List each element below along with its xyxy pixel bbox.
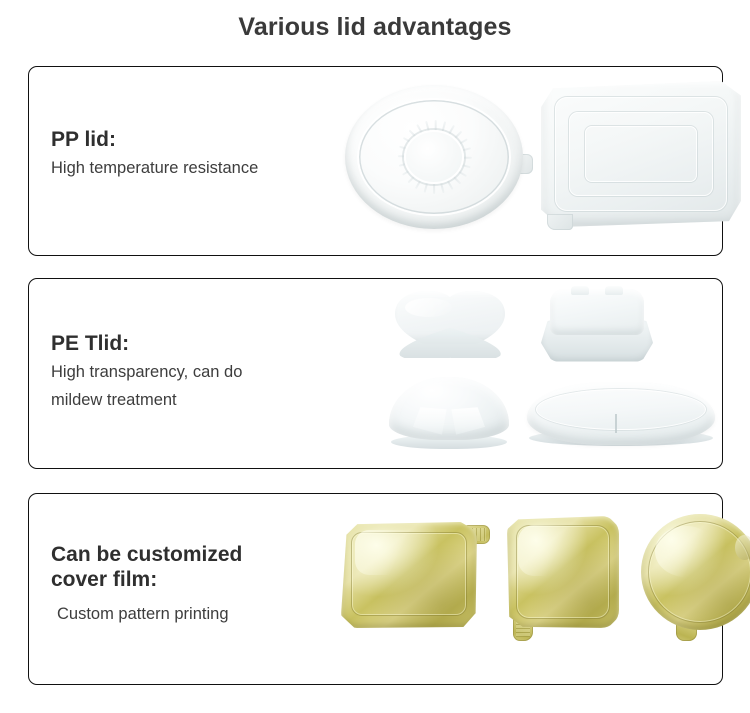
dome-pe-lid-image: [389, 377, 509, 449]
foil-inner-edge: [648, 521, 750, 623]
lid-center-hub: [404, 130, 465, 185]
card-description-cover-film: Custom pattern printing: [51, 600, 351, 628]
card-image-area-pp: [329, 67, 722, 255]
card-text-block-cover-film: Can be customized cover film: Custom pat…: [51, 542, 351, 628]
advantage-card-pp-lid: PP lid: High temperature resistance: [28, 66, 723, 256]
foil-dent: [735, 535, 750, 561]
gold-foil-round-cover-image: [641, 514, 750, 630]
card-description-pp: High temperature resistance: [51, 154, 351, 182]
lid-top-surface: [550, 289, 644, 335]
card-image-area-cover-film: [329, 494, 722, 684]
card-heading-pe: PE Tlid:: [51, 331, 351, 356]
card-heading-pp: PP lid:: [51, 127, 351, 152]
lid-nub: [605, 286, 623, 295]
advantage-card-cover-film: Can be customized cover film: Custom pat…: [28, 493, 723, 685]
foil-inner-edge: [516, 525, 610, 619]
advantage-card-pe-lid: PE Tlid: High transparency, can do milde…: [28, 278, 723, 469]
page-title: Various lid advantages: [0, 0, 750, 54]
card-description-pe: High transparency, can do mildew treatme…: [51, 358, 351, 414]
round-ribbed-pp-lid-image: [345, 85, 523, 229]
gold-foil-rectangular-cover-image: [341, 522, 477, 628]
lid-dome-cap: [389, 377, 509, 440]
lid-ring: [536, 389, 705, 430]
oval-flat-pe-lid-image: [527, 383, 715, 445]
lid-corner-notch: [547, 214, 573, 230]
rectangular-pp-lid-image: [541, 81, 741, 227]
card-heading-cover-film: Can be customized cover film:: [51, 542, 351, 592]
gold-foil-square-cover-image: [507, 516, 619, 628]
heart-shaped-pe-lid-image: [391, 291, 509, 359]
lid-crease: [615, 414, 617, 433]
card-text-block-pp: PP lid: High temperature resistance: [51, 127, 351, 182]
lid-highlight: [405, 298, 452, 317]
foil-inner-edge: [351, 532, 468, 617]
square-pe-lid-image: [541, 289, 653, 363]
lid-nub: [571, 286, 589, 295]
card-image-area-pe: [329, 279, 722, 468]
card-text-block-pe: PE Tlid: High transparency, can do milde…: [51, 331, 351, 414]
lid-rib-inner: [585, 126, 697, 181]
